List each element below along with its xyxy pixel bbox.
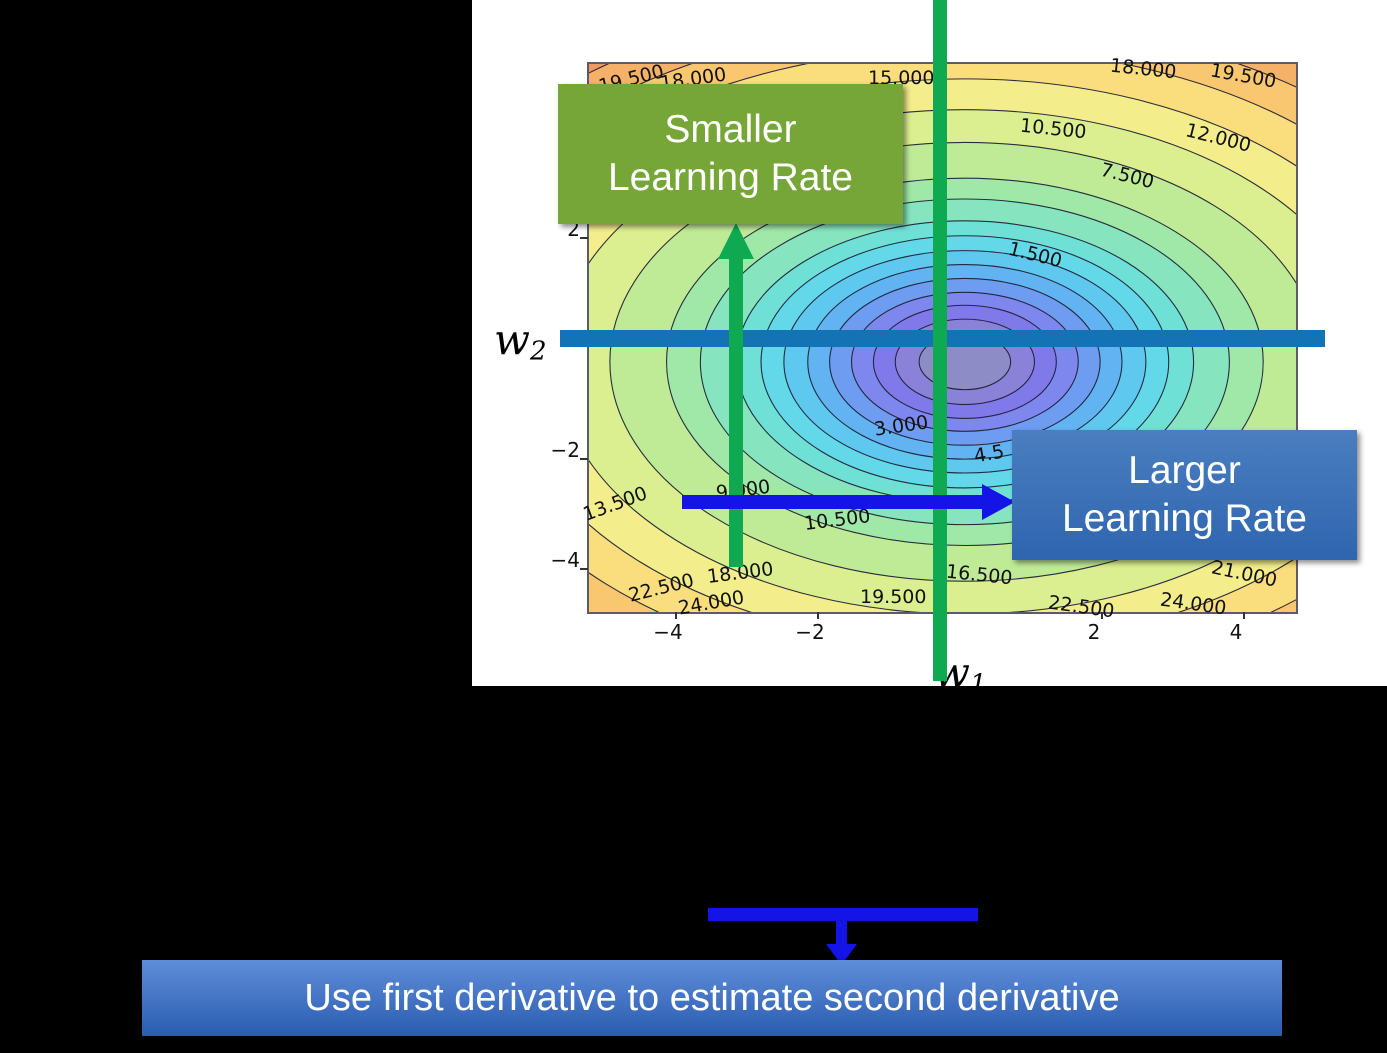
bottom-banner[interactable]: Use first derivative to estimate second …	[142, 960, 1282, 1036]
xtick-label-neg4: −4	[653, 620, 682, 644]
ytick-label-neg2: −2	[544, 438, 580, 462]
callout-larger-learning-rate[interactable]: Larger Learning Rate	[1012, 430, 1357, 560]
ytick-mark	[580, 237, 588, 239]
bottom-banner-text: Use first derivative to estimate second …	[304, 977, 1119, 1020]
xtick-label-4: 4	[1230, 620, 1243, 644]
callout-green-line2: Learning Rate	[608, 154, 853, 202]
callout-green-line1: Smaller	[664, 106, 796, 154]
xtick-mark	[675, 612, 677, 619]
y-axis-label-glyph: w2	[494, 315, 547, 364]
xtick-mark	[1101, 612, 1103, 619]
callout-blue-line1: Larger	[1128, 447, 1241, 495]
y-axis-label-w2: w2 w2	[494, 315, 547, 367]
ytick-mark	[580, 458, 588, 460]
xtick-label-neg2: −2	[795, 620, 824, 644]
ytick-mark	[580, 568, 588, 570]
blue-right-arrow	[682, 482, 1017, 522]
ytick-label-neg4: −4	[544, 548, 580, 572]
callout-blue-line2: Learning Rate	[1062, 495, 1307, 543]
xtick-mark	[817, 612, 819, 619]
bottom-connector-arrow	[700, 908, 990, 966]
green-vertical-sampling-line	[933, 0, 947, 681]
callout-smaller-learning-rate[interactable]: Smaller Learning Rate	[558, 84, 903, 224]
xtick-mark	[1243, 612, 1245, 619]
xtick-label-2: 2	[1088, 620, 1101, 644]
